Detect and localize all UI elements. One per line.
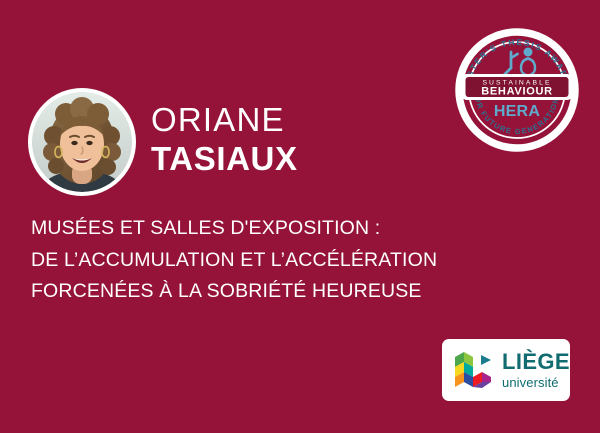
- uliege-logo: LIÈGE université: [442, 339, 570, 401]
- thesis-title-line-2: DE L’ACCUMULATION ET L’ACCÉLÉRATION: [31, 245, 531, 277]
- uliege-subtitle: université: [502, 376, 570, 389]
- hera-award-badge: MASTER'S THESIS AWARDS FOR FUTURE GENERA…: [452, 26, 582, 154]
- speaker-first-name: ORIANE: [151, 103, 298, 136]
- thesis-title-line-1: MUSÉES ET SALLES D'EXPOSITION :: [31, 213, 531, 245]
- uliege-wordmark: LIÈGE université: [502, 351, 570, 389]
- badge-figure-icon: [504, 52, 518, 75]
- speaker-last-name: TASIAUX: [151, 142, 298, 175]
- badge-banner-large-text: BEHAVIOUR: [481, 86, 553, 98]
- badge-brand-hera: HERA: [494, 103, 541, 120]
- speaker-name: ORIANE TASIAUX: [151, 103, 298, 175]
- uliege-name: LIÈGE: [502, 351, 570, 373]
- thesis-title: MUSÉES ET SALLES D'EXPOSITION : DE L’ACC…: [31, 213, 531, 308]
- uliege-mark-icon: [453, 350, 495, 390]
- badge-banner: SUSTAINABLE BEHAVIOUR: [462, 74, 572, 100]
- thesis-title-line-3: FORCENÉES À LA SOBRIÉTÉ HEUREUSE: [31, 276, 531, 308]
- avatar: [28, 88, 136, 196]
- portrait-photo: [32, 92, 132, 192]
- speaker-card: ORIANE TASIAUX MUSÉES ET SALLES D'EXPOSI…: [0, 0, 600, 433]
